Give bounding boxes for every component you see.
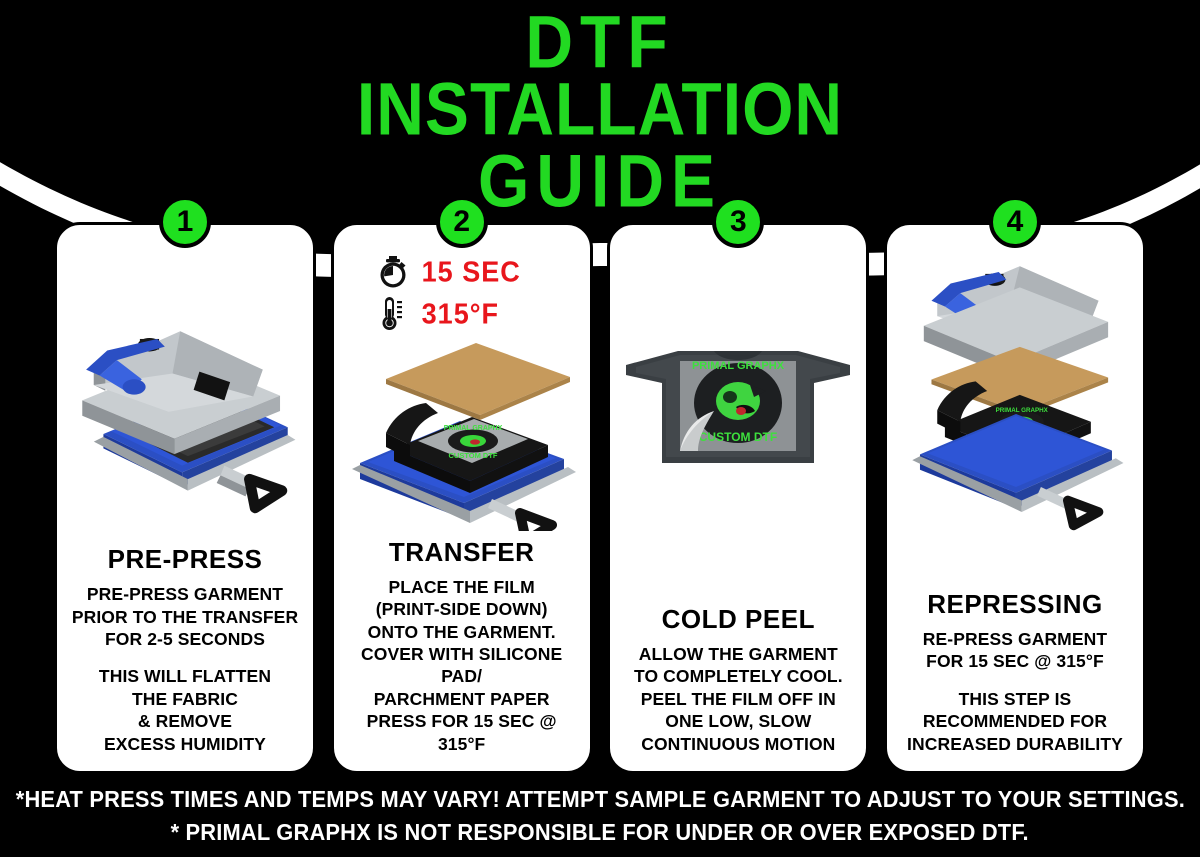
title-line-1: DTF [0,8,1200,76]
step-card-1: 1 [54,222,316,774]
svg-text:PRIMAL GRAPHX: PRIMAL GRAPHX [692,360,785,372]
step-2-heading: TRANSFER [348,537,576,568]
stopwatch-icon [376,255,410,289]
step-card-4: 4 [884,222,1146,774]
parchment-over-garment-icon: PRIMAL GRAPHX CUSTOM DTF [342,341,582,531]
svg-text:PRIMAL GRAPHX: PRIMAL GRAPHX [443,425,502,432]
step-2-specs: 15 SEC [342,251,582,341]
text-line: ONE LOW, SLOW [624,710,852,732]
text-line: PRIOR TO THE TRANSFER [71,606,299,628]
text-line: PRE-PRESS GARMENT [71,583,299,605]
spec-value-temp: 315°F [422,298,499,331]
thermometer-icon [376,295,410,333]
step-1-illustration [65,251,305,521]
step-4-heading: REPRESSING [901,589,1129,620]
svg-text:CUSTOM DTF: CUSTOM DTF [448,451,497,460]
title-line-2: INSTALLATION [0,75,1200,143]
spec-value-time: 15 SEC [422,256,521,289]
text-line: THIS WILL FLATTEN [71,665,299,687]
svg-text:CUSTOM DTF: CUSTOM DTF [699,430,777,444]
step-4-lines: RE-PRESS GARMENTFOR 15 SEC @ 315°FTHIS S… [901,628,1129,755]
step-card-2: 2 15 SEC [331,222,593,774]
step-3-heading: COLD PEEL [624,604,852,635]
heat-press-closed-icon [65,251,305,521]
text-line: INCREASED DURABILITY [901,733,1129,755]
step-3-lines: ALLOW THE GARMENTTO COMPLETELY COOL.PEEL… [624,643,852,755]
poster-title: DTF INSTALLATION GUIDE [0,8,1200,208]
text-line: THIS STEP IS [901,688,1129,710]
text-line: RE-PRESS GARMENT [901,628,1129,650]
heat-press-exploded-icon: PRIMAL GRAPHX CUSTOM DTF [895,251,1135,531]
svg-text:PRIMAL GRAPHX: PRIMAL GRAPHX [996,407,1049,414]
step-2-lines: PLACE THE FILM(PRINT-SIDE DOWN)ONTO THE … [348,576,576,755]
text-line: (PRINT-SIDE DOWN) [348,598,576,620]
text-line: CONTINUOUS MOTION [624,733,852,755]
text-line: EXCESS HUMIDITY [71,733,299,755]
footer-line-2: * PRIMAL GRAPHX IS NOT RESPONSIBLE FOR U… [171,816,1029,849]
tshirt-peeling-film-icon: PRIMAL GRAPHX CUSTOM DTF [618,331,858,501]
text-line: FOR 2-5 SECONDS [71,628,299,650]
step-4-illustration: PRIMAL GRAPHX CUSTOM DTF [895,251,1135,531]
text-line: TO COMPLETELY COOL. [624,665,852,687]
step-card-3: 3 [607,222,869,774]
text-line: FOR 15 SEC @ 315°F [901,650,1129,672]
text-line: ONTO THE GARMENT. [348,621,576,643]
text-line: PLACE THE FILM [348,576,576,598]
step-1-text: PRE-PRESS PRE-PRESS GARMENTPRIOR TO THE … [65,544,305,761]
text-line: THE FABRIC [71,688,299,710]
text-line: PARCHMENT PAPER [348,688,576,710]
step-4-text: REPRESSING RE-PRESS GARMENTFOR 15 SEC @ … [895,589,1135,761]
text-line: & REMOVE [71,710,299,732]
spec-row-temp: 315°F [376,295,582,333]
spec-row-time: 15 SEC [376,255,582,289]
step-3-text: COLD PEEL ALLOW THE GARMENTTO COMPLETELY… [618,604,858,761]
step-2-text: TRANSFER PLACE THE FILM(PRINT-SIDE DOWN)… [342,537,582,761]
text-line: PRESS FOR 15 SEC @ 315°F [348,710,576,755]
step-1-lines: PRE-PRESS GARMENTPRIOR TO THE TRANSFERFO… [71,583,299,755]
step-1-heading: PRE-PRESS [71,544,299,575]
footer-disclaimer: *HEAT PRESS TIMES AND TEMPS MAY VARY! AT… [0,775,1200,857]
text-line: RECOMMENDED FOR [901,710,1129,732]
title-line-3: GUIDE [0,147,1200,215]
text-line: COVER WITH SILICONE PAD/ [348,643,576,688]
step-3-illustration: PRIMAL GRAPHX CUSTOM DTF [618,331,858,501]
text-line: PEEL THE FILM OFF IN [624,688,852,710]
steps-container: 1 [0,222,1200,774]
text-line: ALLOW THE GARMENT [624,643,852,665]
dtf-installation-guide-poster: DTF INSTALLATION GUIDE 1 [0,0,1200,857]
step-2-illustration: PRIMAL GRAPHX CUSTOM DTF [342,341,582,531]
footer-line-1: *HEAT PRESS TIMES AND TEMPS MAY VARY! AT… [15,783,1184,816]
